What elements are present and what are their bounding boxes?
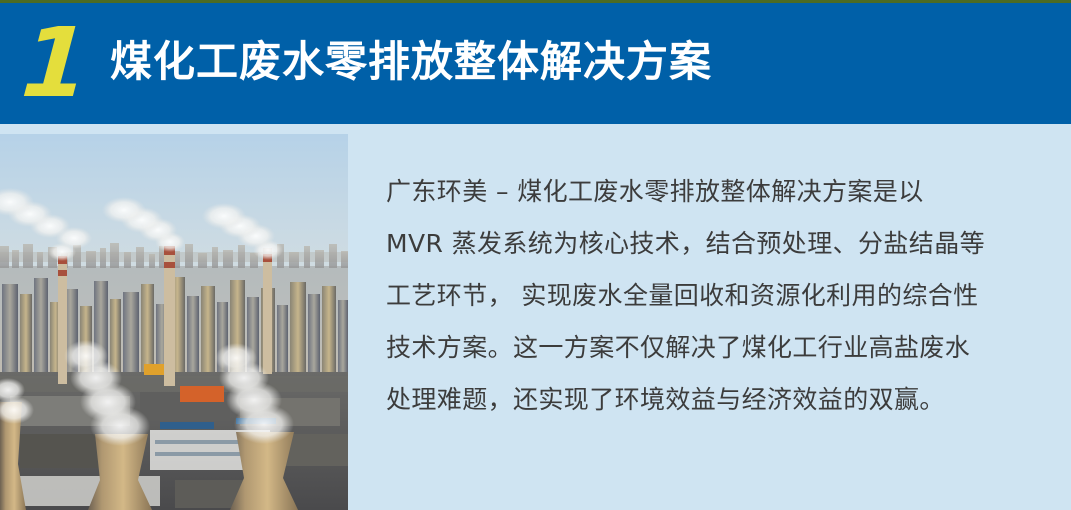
paragraph-line: 广东环美 – 煤化工废水零排放整体解决方案是以	[386, 166, 1006, 218]
paragraph-line: 技术方案。这一方案不仅解决了煤化工行业高盐废水	[386, 322, 1006, 374]
paragraph-line: 处理难题，还实现了环境效益与经济效益的双赢。	[386, 374, 1006, 426]
slide-root: 1 煤化工废水零排放整体解决方案	[0, 0, 1071, 510]
paragraph-line: 工艺环节， 实现废水全量回收和资源化利用的综合性	[386, 270, 1006, 322]
hero-photo	[0, 134, 348, 510]
description-paragraph: 广东环美 – 煤化工废水零排放整体解决方案是以 MVR 蒸发系统为核心技术，结合…	[386, 166, 1006, 426]
header-band: 1 煤化工废水零排放整体解决方案	[0, 3, 1071, 124]
section-number: 1	[19, 15, 91, 111]
paragraph-line: MVR 蒸发系统为核心技术，结合预处理、分盐结晶等	[386, 218, 1006, 270]
hero-photo-graphic	[0, 134, 348, 510]
page-title: 煤化工废水零排放整体解决方案	[110, 31, 712, 93]
